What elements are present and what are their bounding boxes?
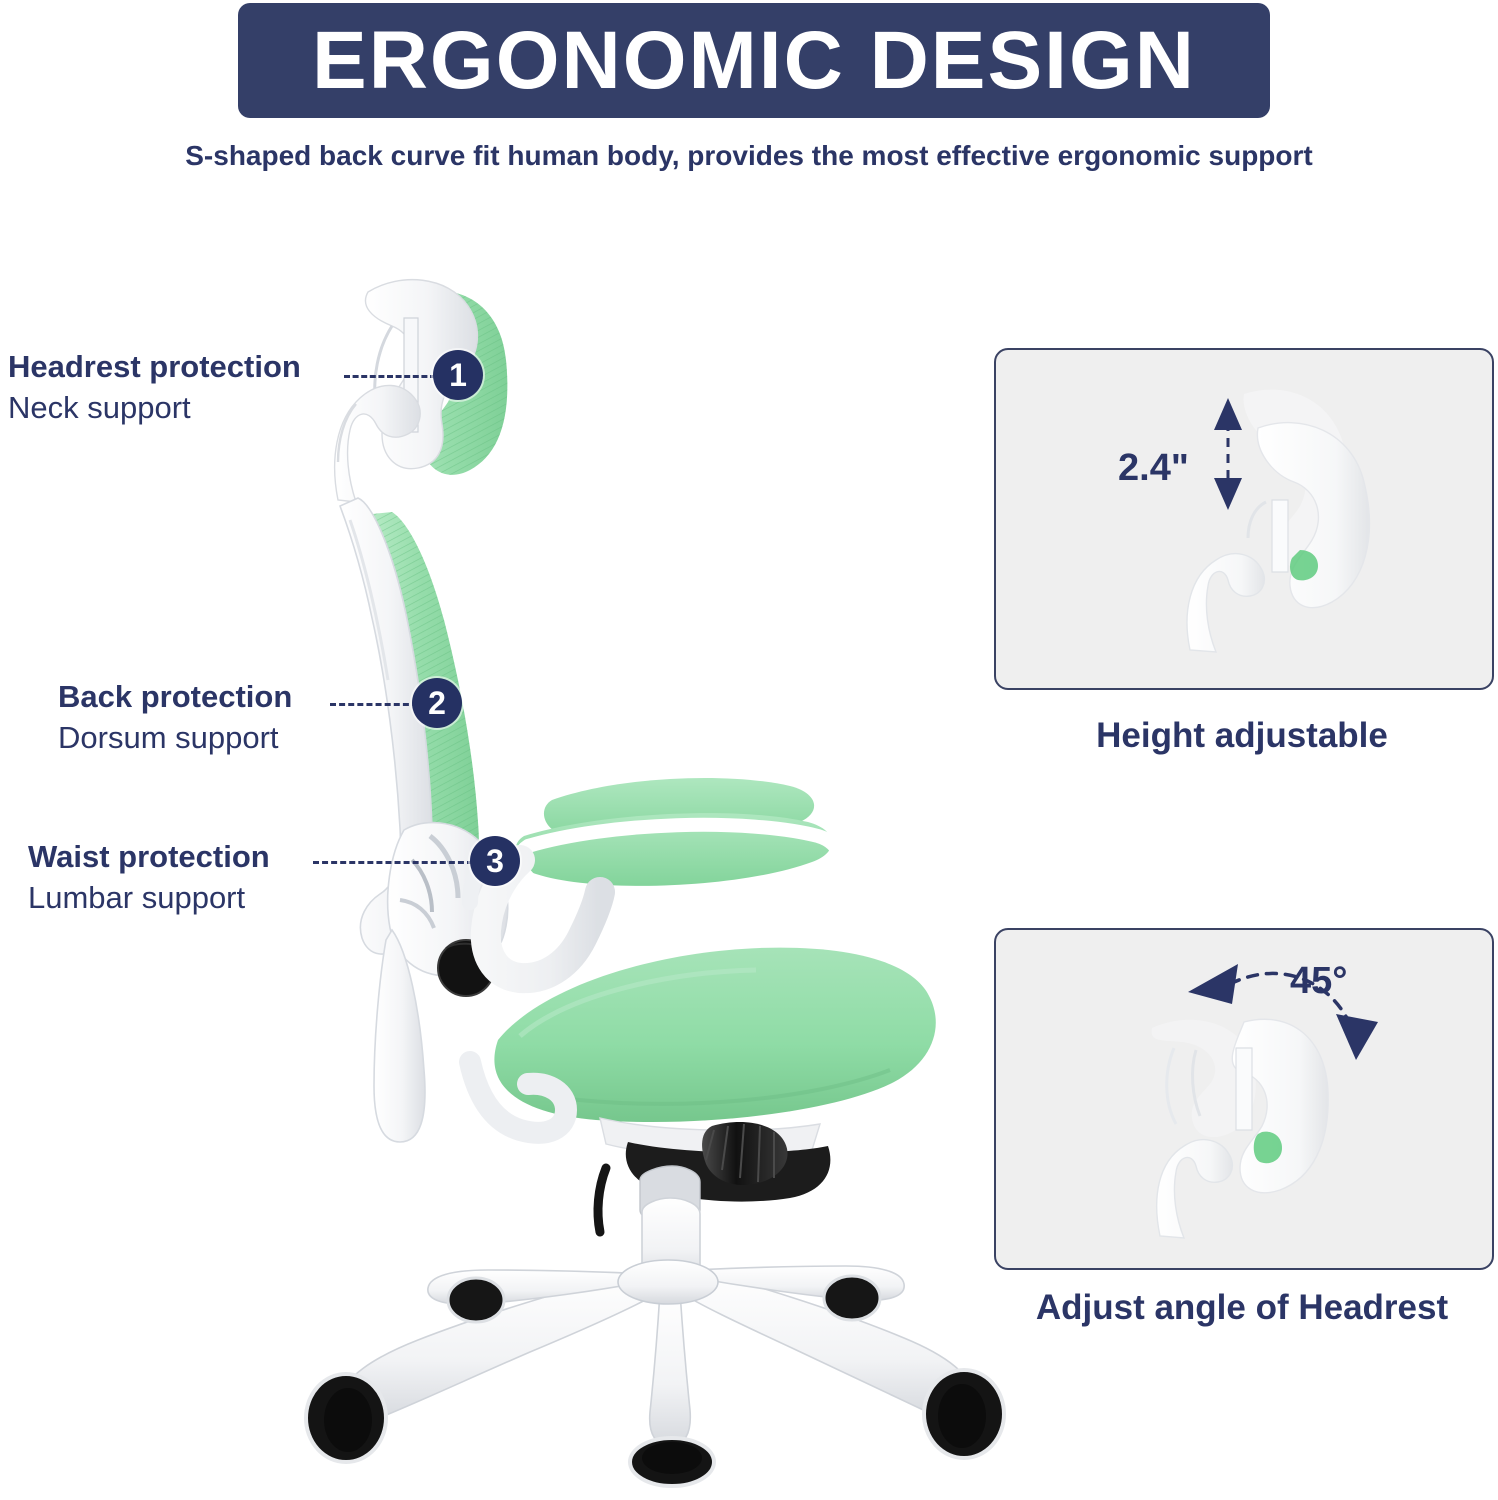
page-subtitle: S-shaped back curve fit human body, prov… <box>0 140 1498 172</box>
infographic-page: ERGONOMIC DESIGN S-shaped back curve fit… <box>0 0 1498 1500</box>
gas-lift-cylinder <box>640 1166 700 1284</box>
height-measurement-label: 2.4" <box>1118 447 1189 490</box>
feature-panel-height-adjustable <box>994 348 1494 690</box>
leader-line-2 <box>330 703 418 706</box>
angle-measurement-label: 45° <box>1290 960 1347 1003</box>
callout-badge-2: 2 <box>412 678 462 728</box>
callout-back-title: Back protection <box>58 680 292 715</box>
caption-height-adjustable: Height adjustable <box>982 716 1498 756</box>
callout-badge-3: 3 <box>470 836 520 886</box>
height-arrow-indicator <box>1214 398 1242 510</box>
callout-headrest-title: Headrest protection <box>8 350 301 385</box>
headrest-height-diagram <box>996 350 1492 688</box>
feature-panel-angle-adjustable <box>994 928 1494 1270</box>
callout-headrest-subtitle: Neck support <box>8 389 301 427</box>
callout-waist-title: Waist protection <box>28 840 270 875</box>
callout-waist: Waist protection Lumbar support <box>28 840 270 917</box>
headrest-stem <box>335 385 421 502</box>
callout-headrest: Headrest protection Neck support <box>8 350 301 427</box>
callout-back-subtitle: Dorsum support <box>58 719 292 757</box>
callout-back: Back protection Dorsum support <box>58 680 292 757</box>
flip-up-armrest <box>470 778 839 978</box>
seat-cushion <box>470 948 936 1133</box>
page-title: ERGONOMIC DESIGN <box>312 20 1196 102</box>
seat-mechanism <box>598 1118 830 1232</box>
backrest-lower-shell <box>374 930 425 1142</box>
height-lever <box>702 1122 787 1185</box>
caption-adjust-angle: Adjust angle of Headrest <box>982 1288 1498 1328</box>
headrest-angle-diagram <box>996 930 1492 1268</box>
title-banner: ERGONOMIC DESIGN <box>238 3 1270 118</box>
callout-badge-1: 1 <box>433 350 483 400</box>
backrest-frame <box>340 498 432 954</box>
casters <box>306 1276 1004 1486</box>
leader-line-3 <box>313 861 473 864</box>
callout-waist-subtitle: Lumbar support <box>28 879 270 917</box>
leader-line-1 <box>344 375 436 378</box>
five-star-base <box>339 1260 974 1446</box>
